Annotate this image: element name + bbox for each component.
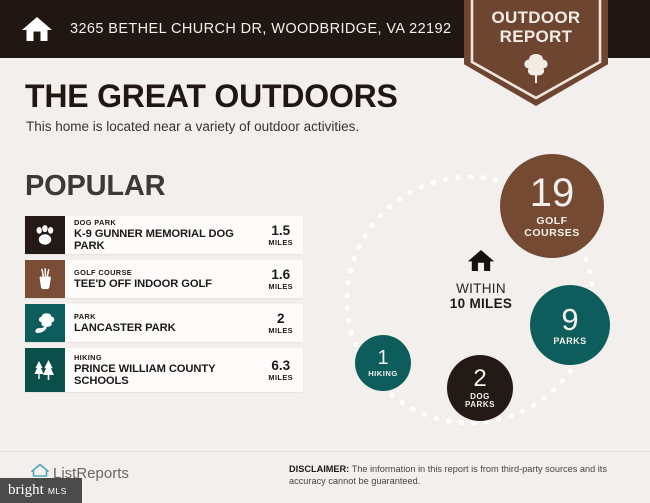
page-subtitle: This home is located near a variety of o… [26,119,359,134]
bubble-hiking[interactable]: 1 HIKING [355,335,411,391]
list-item-category: HIKING [74,353,262,363]
home-icon [20,14,54,44]
tree-icon [521,52,551,89]
list-item-text: GOLF COURSE TEE'D OFF INDOOR GOLF [74,268,262,291]
list-item[interactable]: DOG PARK K-9 GUNNER MEMORIAL DOG PARK 1.… [25,216,303,254]
within-10-miles-diagram: WITHIN 10 MILES 19 GOLF COURSES 9 PARKS … [330,140,650,440]
bubble-parks[interactable]: 9 PARKS [530,285,610,365]
list-item-distance: 2 MILES [262,312,297,335]
bubble-label-line2: COURSES [524,228,579,239]
list-item-distance: 6.3 MILES [262,359,297,382]
bubble-value: 1 [377,348,388,368]
distance-unit: MILES [268,282,293,291]
bubble-value: 9 [561,304,578,335]
property-address: 3265 BETHEL CHURCH DR, WOODBRIDGE, VA 22… [70,21,451,37]
list-item[interactable]: PARK LANCASTER PARK 2 MILES [25,304,303,342]
list-item-text: HIKING PRINCE WILLIAM COUNTY SCHOOLS [74,353,262,388]
list-item-distance: 1.5 MILES [262,224,297,247]
paw-icon [25,216,65,254]
within-distance: 10 MILES [426,296,536,311]
list-item-name: TEE'D OFF INDOOR GOLF [74,278,262,291]
list-item-name: PRINCE WILLIAM COUNTY SCHOOLS [74,363,262,388]
distance-unit: MILES [268,326,293,335]
bubble-label-line1: PARKS [553,337,586,346]
distance-unit: MILES [268,373,293,382]
badge-title-line1: OUTDOOR [492,8,581,27]
list-item[interactable]: GOLF COURSE TEE'D OFF INDOOR GOLF 1.6 MI… [25,260,303,298]
bubble-golf-courses[interactable]: 19 GOLF COURSES [500,154,604,258]
distance-value: 2 [268,312,293,326]
distance-value: 6.3 [268,359,293,373]
bubble-value: 2 [473,367,486,391]
list-item-category: GOLF COURSE [74,268,262,278]
bubble-label-line1: HIKING [368,370,398,378]
disclaimer: DISCLAIMER: The information in this repo… [289,463,634,487]
bright-mls-logo[interactable]: bright MLS [0,478,82,503]
bright-wordmark: bright [8,482,44,499]
list-item-category: PARK [74,312,262,322]
footer-divider [0,451,650,452]
diagram-center-label: WITHIN 10 MILES [426,248,536,311]
within-label: WITHIN [426,281,536,296]
page-title: THE GREAT OUTDOORS [25,78,398,115]
hiking-trees-icon [25,348,65,392]
list-item-name: LANCASTER PARK [74,322,262,335]
list-item[interactable]: HIKING PRINCE WILLIAM COUNTY SCHOOLS 6.3… [25,348,303,392]
outdoor-report-badge: OUTDOOR REPORT [464,0,608,106]
list-item-body: DOG PARK K-9 GUNNER MEMORIAL DOG PARK 1.… [65,216,303,254]
disclaimer-label: DISCLAIMER: [289,464,349,474]
list-item-name: K-9 GUNNER MEMORIAL DOG PARK [74,228,262,253]
list-item-body: PARK LANCASTER PARK 2 MILES [65,304,303,342]
list-item-distance: 1.6 MILES [262,268,297,291]
golf-bag-icon [25,260,65,298]
outdoor-report-page: 3265 BETHEL CHURCH DR, WOODBRIDGE, VA 22… [0,0,650,503]
list-item-body: HIKING PRINCE WILLIAM COUNTY SCHOOLS 6.3… [65,348,303,392]
list-item-body: GOLF COURSE TEE'D OFF INDOOR GOLF 1.6 MI… [65,260,303,298]
bubble-value: 19 [530,173,575,213]
list-item-category: DOG PARK [74,218,262,228]
park-trees-icon [25,304,65,342]
bubble-label-line1: GOLF [536,216,567,227]
distance-value: 1.5 [268,224,293,238]
badge-title-line2: REPORT [500,27,573,46]
popular-list: DOG PARK K-9 GUNNER MEMORIAL DOG PARK 1.… [25,216,303,398]
popular-section-heading: POPULAR [25,170,165,203]
bubble-label-line2: PARKS [465,401,495,409]
home-icon [426,248,536,278]
list-item-text: DOG PARK K-9 GUNNER MEMORIAL DOG PARK [74,218,262,253]
list-item-text: PARK LANCASTER PARK [74,312,262,335]
mls-label: MLS [48,486,67,496]
distance-unit: MILES [268,238,293,247]
distance-value: 1.6 [268,268,293,282]
bubble-dog-parks[interactable]: 2 DOG PARKS [447,355,513,421]
